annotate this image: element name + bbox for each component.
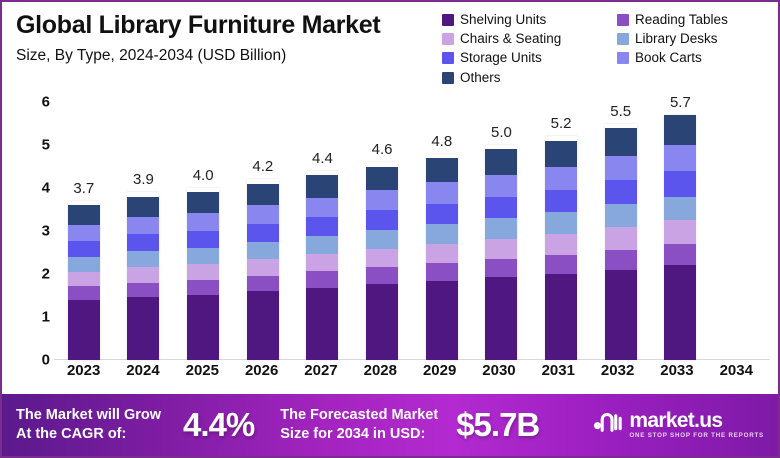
chart-header: Global Library Furniture Market Size, By… <box>16 12 446 65</box>
bar-segment-book-carts[interactable] <box>68 225 100 241</box>
legend-label: Others <box>460 71 501 85</box>
legend-item-others[interactable]: Others <box>442 68 617 87</box>
bar-segment-book-carts[interactable] <box>127 217 159 234</box>
bar-column[interactable]: 4.6 <box>353 90 411 360</box>
bar-segment-shelving-units[interactable] <box>485 277 517 360</box>
bar-column[interactable] <box>711 90 769 360</box>
bar-segment-book-carts[interactable] <box>426 182 458 203</box>
bar-value-label: 3.9 <box>114 171 172 188</box>
bar-segment-library-desks[interactable] <box>187 248 219 264</box>
x-axis: 2023202420252026202720282029203020312032… <box>54 362 766 388</box>
chart-container: Global Library Furniture Market Size, By… <box>0 0 780 458</box>
bar-stack <box>605 124 637 361</box>
bar-segment-storage-units[interactable] <box>664 171 696 197</box>
legend-swatch-icon <box>442 14 454 26</box>
bar-segment-chairs-seating[interactable] <box>68 272 100 287</box>
bar-stack <box>366 162 398 360</box>
bar-value-label: 4.4 <box>293 150 351 167</box>
bar-stack <box>664 115 696 360</box>
bar-column[interactable]: 5.5 <box>592 90 650 360</box>
bar-value-label: 3.7 <box>55 180 113 197</box>
bar-segment-chairs-seating[interactable] <box>426 244 458 263</box>
legend-item-chairs-seating[interactable]: Chairs & Seating <box>442 29 617 48</box>
bar-segment-others[interactable] <box>545 141 577 167</box>
bar-segment-storage-units[interactable] <box>127 234 159 251</box>
bar-segment-library-desks[interactable] <box>366 230 398 249</box>
legend-swatch-icon <box>617 52 629 64</box>
bar-segment-book-carts[interactable] <box>187 213 219 231</box>
bar-segment-shelving-units[interactable] <box>187 295 219 360</box>
bar-segment-reading-tables[interactable] <box>545 255 577 274</box>
x-axis-tick: 2025 <box>173 362 231 388</box>
bar-value-label: 4.2 <box>234 158 292 175</box>
bar-segment-chairs-seating[interactable] <box>247 259 279 276</box>
bar-segment-reading-tables[interactable] <box>247 276 279 291</box>
y-axis-tick: 2 <box>24 266 50 283</box>
legend-item-book-carts[interactable]: Book Carts <box>617 49 772 68</box>
bar-column[interactable]: 3.9 <box>114 90 172 360</box>
bar-segment-shelving-units[interactable] <box>68 300 100 360</box>
bar-group: 3.73.94.04.24.44.64.85.05.25.55.7 <box>54 90 770 360</box>
bar-segment-reading-tables[interactable] <box>187 280 219 295</box>
bar-segment-storage-units[interactable] <box>545 190 577 212</box>
bar-stack <box>68 201 100 360</box>
bar-segment-reading-tables[interactable] <box>605 250 637 270</box>
forecast-value: $5.7B <box>456 406 539 444</box>
bar-value-label: 4.0 <box>174 167 232 184</box>
forecast-label-line1: The Forecasted Market <box>280 407 438 423</box>
bar-segment-others[interactable] <box>426 158 458 183</box>
bar-segment-library-desks[interactable] <box>545 212 577 233</box>
brand-text: market.us ONE STOP SHOP FOR THE REPORTS <box>629 410 764 439</box>
bar-segment-others[interactable] <box>187 192 219 213</box>
bar-segment-chairs-seating[interactable] <box>366 249 398 267</box>
cagr-label-line2: At the CAGR of: <box>16 426 126 442</box>
x-axis-tick: 2029 <box>411 362 469 388</box>
bar-column[interactable]: 5.0 <box>472 90 530 360</box>
bar-segment-library-desks[interactable] <box>68 257 100 272</box>
bar-segment-storage-units[interactable] <box>306 217 338 236</box>
bar-segment-others[interactable] <box>306 175 338 197</box>
legend-label: Reading Tables <box>635 13 728 27</box>
cagr-label: The Market will Grow At the CAGR of: <box>16 406 161 443</box>
bar-column[interactable]: 4.2 <box>234 90 292 360</box>
bar-segment-storage-units[interactable] <box>485 197 517 219</box>
bar-segment-chairs-seating[interactable] <box>605 227 637 249</box>
bar-segment-book-carts[interactable] <box>366 190 398 210</box>
bar-value-label: 5.0 <box>472 124 530 141</box>
cagr-value: 4.4% <box>183 406 254 444</box>
bar-stack <box>426 154 458 360</box>
bar-column[interactable]: 5.2 <box>532 90 590 360</box>
y-axis-tick: 3 <box>24 223 50 240</box>
y-axis: 0123456 <box>24 90 50 360</box>
bar-segment-book-carts[interactable] <box>247 205 279 223</box>
bar-segment-reading-tables[interactable] <box>366 267 398 284</box>
legend-label: Chairs & Seating <box>460 32 561 46</box>
bar-column[interactable]: 4.8 <box>413 90 471 360</box>
bar-segment-others[interactable] <box>664 115 696 145</box>
bar-segment-chairs-seating[interactable] <box>187 264 219 280</box>
market-us-logo-icon <box>592 410 622 441</box>
bar-stack <box>545 136 577 360</box>
bar-segment-others[interactable] <box>485 149 517 174</box>
footer-banner: The Market will Grow At the CAGR of: 4.4… <box>2 394 778 456</box>
x-axis-tick: 2027 <box>292 362 350 388</box>
bar-segment-library-desks[interactable] <box>306 236 338 254</box>
bar-segment-storage-units[interactable] <box>68 241 100 257</box>
bar-segment-shelving-units[interactable] <box>366 284 398 360</box>
cagr-label-line1: The Market will Grow <box>16 407 161 423</box>
bar-segment-reading-tables[interactable] <box>68 286 100 299</box>
bar-segment-storage-units[interactable] <box>426 204 458 225</box>
legend-label: Library Desks <box>635 32 718 46</box>
bar-segment-reading-tables[interactable] <box>485 259 517 277</box>
brand-logo: market.us ONE STOP SHOP FOR THE REPORTS <box>592 410 764 441</box>
y-axis-tick: 6 <box>24 94 50 111</box>
legend-swatch-icon <box>442 33 454 45</box>
bar-segment-library-desks[interactable] <box>247 242 279 259</box>
legend-item-shelving-units[interactable]: Shelving Units <box>442 10 617 29</box>
legend-label: Storage Units <box>460 51 542 65</box>
bar-segment-chairs-seating[interactable] <box>485 239 517 259</box>
legend-item-library-desks[interactable]: Library Desks <box>617 29 772 48</box>
legend-label: Shelving Units <box>460 13 546 27</box>
bar-segment-chairs-seating[interactable] <box>664 220 696 244</box>
brand-name: market.us <box>629 409 722 432</box>
bar-segment-shelving-units[interactable] <box>127 297 159 360</box>
bar-segment-reading-tables[interactable] <box>306 271 338 287</box>
y-axis-tick: 1 <box>24 309 50 326</box>
bar-segment-library-desks[interactable] <box>605 204 637 227</box>
brand-tagline: ONE STOP SHOP FOR THE REPORTS <box>629 433 764 439</box>
bar-segment-book-carts[interactable] <box>605 156 637 181</box>
bar-value-label: 5.5 <box>592 103 650 120</box>
bar-segment-reading-tables[interactable] <box>664 244 696 265</box>
bar-stack <box>306 171 338 360</box>
y-axis-tick: 5 <box>24 137 50 154</box>
x-axis-tick: 2023 <box>55 362 113 388</box>
bar-value-label: 5.2 <box>532 115 590 132</box>
legend-label: Book Carts <box>635 51 702 65</box>
bar-segment-shelving-units[interactable] <box>605 270 637 360</box>
bar-segment-chairs-seating[interactable] <box>127 267 159 282</box>
bar-segment-library-desks[interactable] <box>426 224 458 244</box>
bar-segment-others[interactable] <box>366 167 398 190</box>
bar-segment-book-carts[interactable] <box>664 145 696 171</box>
page-title: Global Library Furniture Market <box>16 12 446 40</box>
bar-segment-reading-tables[interactable] <box>426 263 458 281</box>
chart-subtitle: Size, By Type, 2024-2034 (USD Billion) <box>16 47 446 66</box>
bar-segment-chairs-seating[interactable] <box>545 234 577 255</box>
bar-segment-chairs-seating[interactable] <box>306 254 338 272</box>
bar-stack <box>127 192 159 360</box>
x-axis-tick: 2034 <box>707 362 765 388</box>
bar-segment-shelving-units[interactable] <box>545 274 577 360</box>
bar-column[interactable]: 4.0 <box>174 90 232 360</box>
bar-column[interactable]: 5.7 <box>651 90 709 360</box>
bar-segment-library-desks[interactable] <box>127 251 159 267</box>
x-axis-tick: 2026 <box>233 362 291 388</box>
x-axis-tick: 2030 <box>470 362 528 388</box>
bar-stack <box>187 188 219 360</box>
x-axis-tick: 2031 <box>529 362 587 388</box>
bar-stack <box>485 145 517 360</box>
legend-swatch-icon <box>442 72 454 84</box>
bar-segment-storage-units[interactable] <box>366 210 398 230</box>
bar-column[interactable]: 3.7 <box>55 90 113 360</box>
bar-segment-storage-units[interactable] <box>247 224 279 242</box>
bar-segment-library-desks[interactable] <box>485 218 517 239</box>
bar-segment-storage-units[interactable] <box>605 180 637 204</box>
bar-segment-book-carts[interactable] <box>485 175 517 197</box>
legend-swatch-icon <box>617 14 629 26</box>
chart-legend: Shelving UnitsChairs & SeatingStorage Un… <box>442 10 772 87</box>
bar-segment-book-carts[interactable] <box>306 198 338 217</box>
x-axis-tick: 2028 <box>351 362 409 388</box>
bar-segment-others[interactable] <box>247 184 279 205</box>
bar-segment-shelving-units[interactable] <box>426 281 458 360</box>
forecast-label: The Forecasted Market Size for 2034 in U… <box>280 406 438 443</box>
bar-stack <box>247 179 279 360</box>
bar-value-label: 4.8 <box>413 133 471 150</box>
bar-segment-shelving-units[interactable] <box>664 265 696 360</box>
bar-segment-book-carts[interactable] <box>545 167 577 190</box>
bar-value-label: 5.7 <box>651 94 709 111</box>
plot-area: 0123456 3.73.94.04.24.44.64.85.05.25.55.… <box>2 90 780 360</box>
bar-segment-reading-tables[interactable] <box>127 283 159 297</box>
bar-value-label: 4.6 <box>353 141 411 158</box>
bar-segment-shelving-units[interactable] <box>247 291 279 360</box>
bar-segment-shelving-units[interactable] <box>306 288 338 360</box>
x-axis-tick: 2032 <box>589 362 647 388</box>
bar-column[interactable]: 4.4 <box>293 90 351 360</box>
bar-segment-others[interactable] <box>68 205 100 224</box>
x-axis-tick: 2024 <box>114 362 172 388</box>
bar-segment-storage-units[interactable] <box>187 231 219 248</box>
legend-swatch-icon <box>442 52 454 64</box>
bar-segment-library-desks[interactable] <box>664 197 696 221</box>
legend-item-storage-units[interactable]: Storage Units <box>442 49 617 68</box>
bar-segment-others[interactable] <box>605 128 637 156</box>
legend-swatch-icon <box>617 33 629 45</box>
x-axis-tick: 2033 <box>648 362 706 388</box>
forecast-label-line2: Size for 2034 in USD: <box>280 426 425 442</box>
legend-item-reading-tables[interactable]: Reading Tables <box>617 10 772 29</box>
bar-segment-others[interactable] <box>127 197 159 218</box>
y-axis-tick: 4 <box>24 180 50 197</box>
y-axis-tick: 0 <box>24 352 50 369</box>
